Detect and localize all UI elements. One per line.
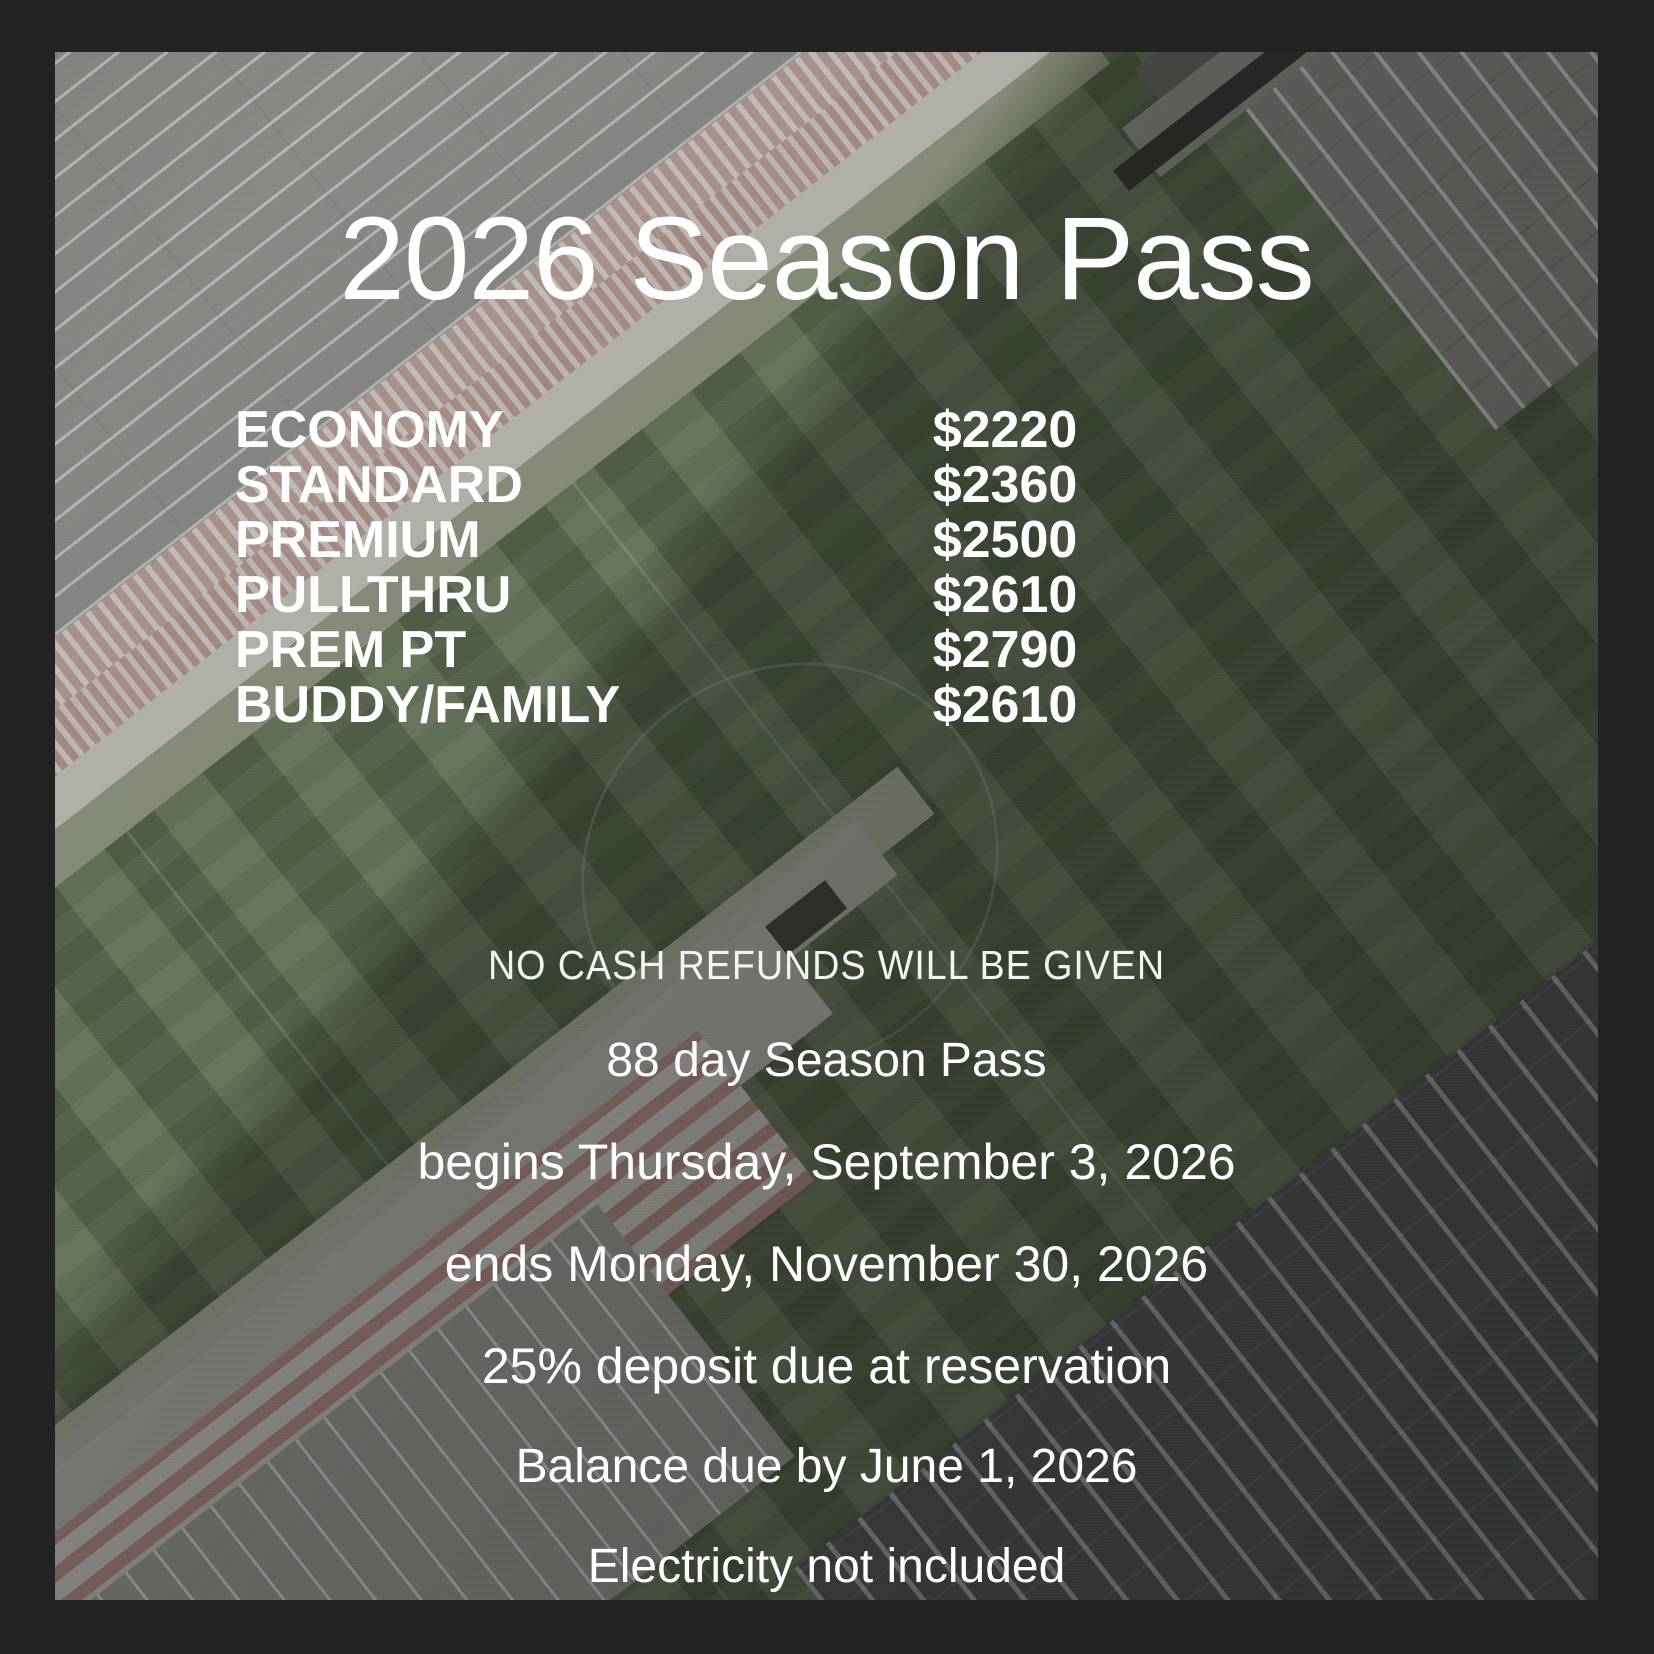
detail-balance-due: Balance due by June 1, 2026: [55, 1443, 1598, 1491]
tier-label: PREMIUM: [235, 514, 855, 566]
tier-label: PULLTHRU: [235, 569, 855, 621]
tier-price: $2500: [855, 514, 1155, 566]
table-row: PREMIUM $2500: [235, 514, 1295, 569]
tier-label: BUDDY/FAMILY: [235, 679, 855, 731]
tier-label: STANDARD: [235, 459, 855, 511]
detail-electricity: Electricity not included: [55, 1543, 1598, 1591]
detail-season-length: 88 day Season Pass: [55, 1037, 1598, 1085]
tier-price: $2610: [855, 569, 1155, 621]
detail-deposit: 25% deposit due at reservation: [55, 1341, 1598, 1391]
tier-price: $2610: [855, 679, 1155, 731]
details-list: 88 day Season Pass begins Thursday, Sept…: [55, 1037, 1598, 1600]
table-row: BUDDY/FAMILY $2610: [235, 679, 1295, 734]
table-row: STANDARD $2360: [235, 459, 1295, 514]
tier-price: $2790: [855, 624, 1155, 676]
poster-content: 2026 Season Pass ECONOMY $2220 STANDARD …: [55, 52, 1598, 1600]
tier-label: ECONOMY: [235, 404, 855, 456]
refund-policy-note: NO CASH REFUNDS WILL BE GIVEN: [117, 942, 1537, 989]
detail-start-date: begins Thursday, September 3, 2026: [55, 1137, 1598, 1187]
stadium-background-photo: 2026 Season Pass ECONOMY $2220 STANDARD …: [55, 52, 1598, 1600]
detail-end-date: ends Monday, November 30, 2026: [55, 1239, 1598, 1289]
tier-label: PREM PT: [235, 624, 855, 676]
tier-price: $2360: [855, 459, 1155, 511]
page-title: 2026 Season Pass: [55, 200, 1598, 318]
poster-root: 2026 Season Pass ECONOMY $2220 STANDARD …: [0, 0, 1654, 1654]
table-row: ECONOMY $2220: [235, 404, 1295, 459]
pricing-table: ECONOMY $2220 STANDARD $2360 PREMIUM $25…: [235, 404, 1295, 734]
table-row: PREM PT $2790: [235, 624, 1295, 679]
tier-price: $2220: [855, 404, 1155, 456]
table-row: PULLTHRU $2610: [235, 569, 1295, 624]
